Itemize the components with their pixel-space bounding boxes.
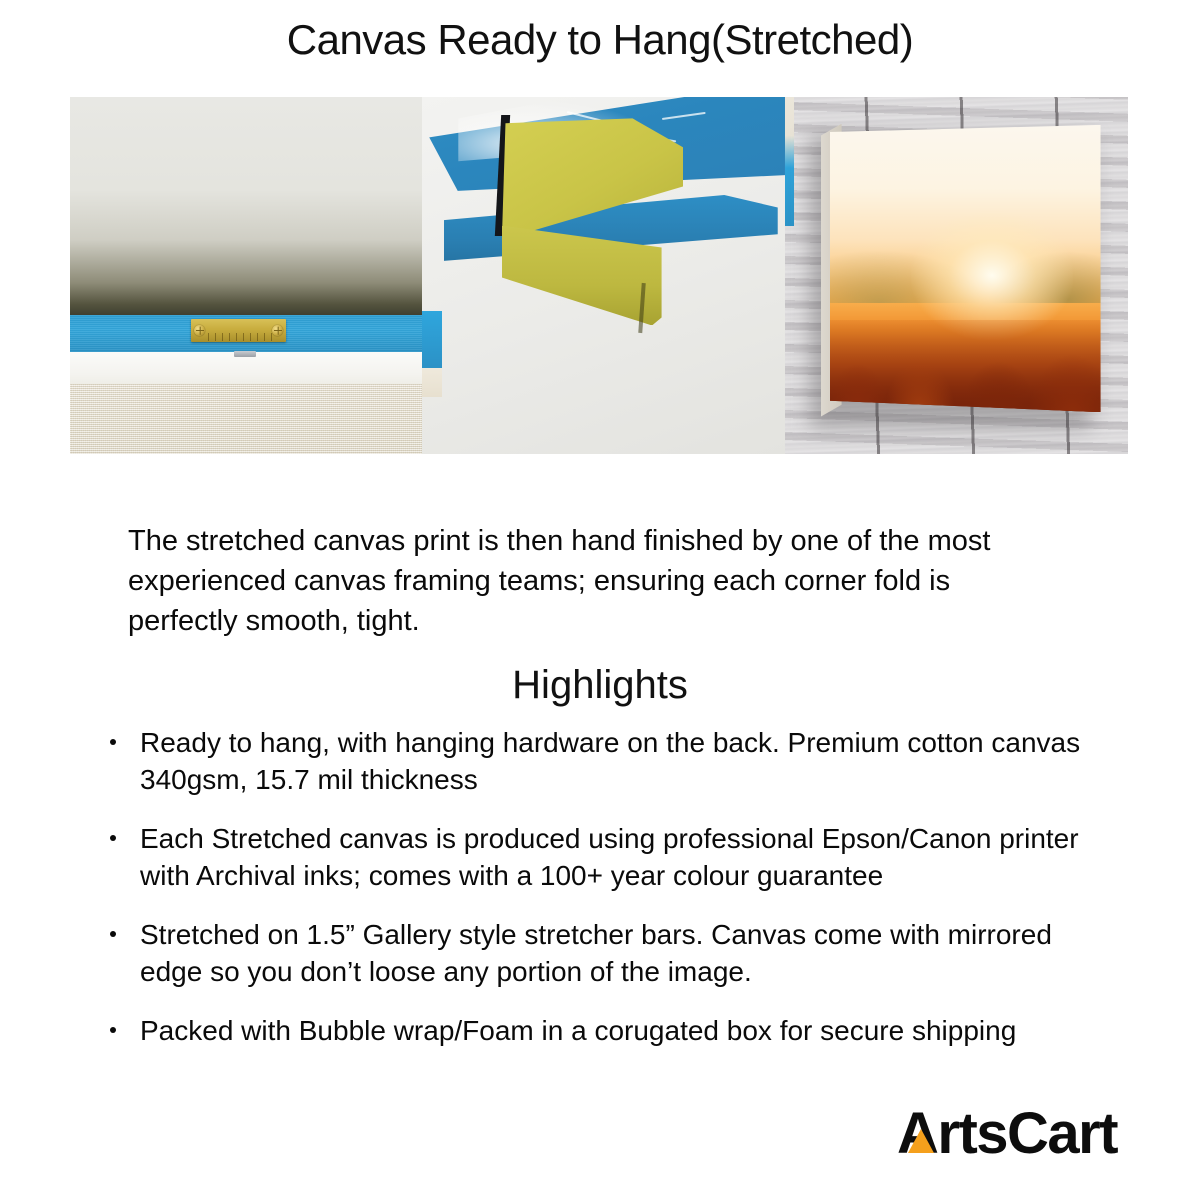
adjacent-canvas-blue-strip xyxy=(422,311,442,375)
triangle-icon xyxy=(908,1129,934,1153)
adjacent-canvas-light-strip xyxy=(422,368,442,397)
bullet-dot-icon xyxy=(110,1027,116,1033)
sawtooth-hanger-icon xyxy=(191,319,286,341)
list-item-text: Ready to hang, with hanging hardware on … xyxy=(140,727,1080,795)
logo-wordmark: ArtsCart xyxy=(897,1105,1117,1163)
canvas-texture-surface xyxy=(70,384,422,454)
gallery-image-canvas-hung-on-wall xyxy=(785,97,1128,454)
highlights-heading: Highlights xyxy=(0,663,1200,708)
bullet-dot-icon xyxy=(110,931,116,937)
adjacent-image-edge xyxy=(785,97,794,226)
highlights-list: Ready to hang, with hanging hardware on … xyxy=(108,724,1120,1071)
gallery-image-canvas-back-hanging-hardware xyxy=(70,97,422,454)
list-item-text: Packed with Bubble wrap/Foam in a coruga… xyxy=(140,1015,1016,1046)
screw-left-icon xyxy=(194,325,205,336)
list-item: Ready to hang, with hanging hardware on … xyxy=(108,724,1120,798)
screw-right-icon xyxy=(272,325,283,336)
list-item: Each Stretched canvas is produced using … xyxy=(108,820,1120,894)
list-item-text: Stretched on 1.5” Gallery style stretche… xyxy=(140,919,1052,987)
bullet-dot-icon xyxy=(110,739,116,745)
gallery-image-canvas-corner-fold xyxy=(422,97,785,454)
bullet-dot-icon xyxy=(110,835,116,841)
intro-paragraph: The stretched canvas print is then hand … xyxy=(128,521,1058,641)
canvas-white-band xyxy=(70,352,422,384)
wall-nail-icon xyxy=(234,351,256,357)
list-item: Packed with Bubble wrap/Foam in a coruga… xyxy=(108,1012,1120,1049)
landscape-foliage xyxy=(830,320,1101,412)
list-item: Stretched on 1.5” Gallery style stretche… xyxy=(108,916,1120,990)
artscart-logo: ArtsCart xyxy=(897,1098,1117,1170)
product-image-gallery xyxy=(70,97,1128,454)
sunset-landscape-print xyxy=(830,125,1101,412)
page-title: Canvas Ready to Hang(Stretched) xyxy=(0,16,1200,64)
list-item-text: Each Stretched canvas is produced using … xyxy=(140,823,1079,891)
